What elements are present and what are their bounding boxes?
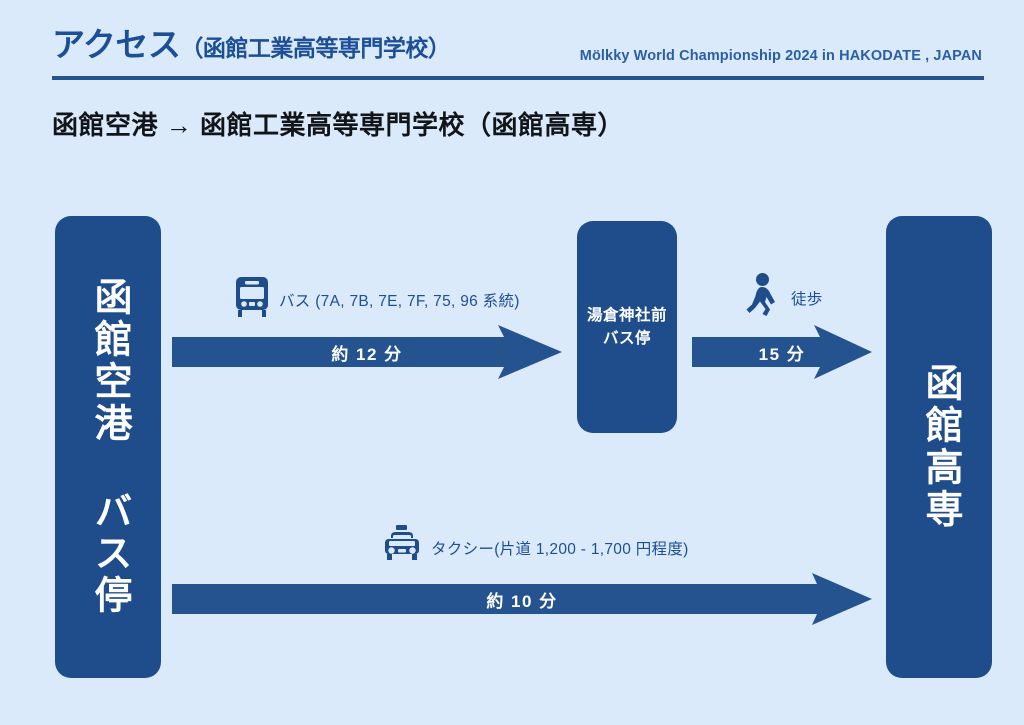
bus-mode-label: バス (7A, 7B, 7E, 7F, 75, 96 系統) bbox=[279, 289, 520, 311]
page-title-main: アクセス bbox=[52, 26, 180, 63]
header-divider bbox=[52, 76, 984, 80]
node-destination-school: 函館高専 bbox=[886, 216, 992, 678]
page-title-sub: （函館工業高等専門学校） bbox=[180, 35, 450, 61]
bus-duration-arrow: 約 12 分 bbox=[172, 323, 562, 381]
walk-mode-label-group: 徒歩 bbox=[742, 272, 823, 323]
walk-mode-label: 徒歩 bbox=[791, 287, 823, 309]
taxi-mode-label: タクシー(片道 1,200 - 1,700 円程度) bbox=[431, 537, 689, 559]
page-header: アクセス（函館工業高等専門学校） Mölkky World Championsh… bbox=[52, 22, 984, 80]
bus-icon bbox=[232, 276, 272, 323]
node-origin-label: 函館空港 バス停 bbox=[88, 277, 128, 617]
event-name: Mölkky World Championship 2024 in HAKODA… bbox=[580, 48, 982, 64]
node-midpoint-label-line1: 湯倉神社前 bbox=[587, 304, 667, 327]
taxi-icon bbox=[380, 524, 424, 571]
node-destination-label: 函館高専 bbox=[919, 363, 959, 531]
walking-person-icon bbox=[742, 272, 782, 323]
bus-mode-label-group: バス (7A, 7B, 7E, 7F, 75, 96 系統) bbox=[232, 276, 520, 323]
taxi-duration-arrow: 約 10 分 bbox=[172, 570, 872, 628]
taxi-mode-label-group: タクシー(片道 1,200 - 1,700 円程度) bbox=[380, 524, 689, 571]
node-midpoint-label-line2: バス停 bbox=[587, 327, 667, 350]
page-title: アクセス（函館工業高等専門学校） bbox=[52, 28, 450, 61]
route-heading: 函館空港 → 函館工業高等専門学校（函館高専） bbox=[52, 105, 624, 142]
node-origin-bus-stop: 函館空港 バス停 bbox=[55, 216, 161, 678]
node-midpoint-bus-stop: 湯倉神社前 バス停 bbox=[577, 221, 677, 433]
walk-duration-arrow: 15 分 bbox=[692, 323, 872, 381]
